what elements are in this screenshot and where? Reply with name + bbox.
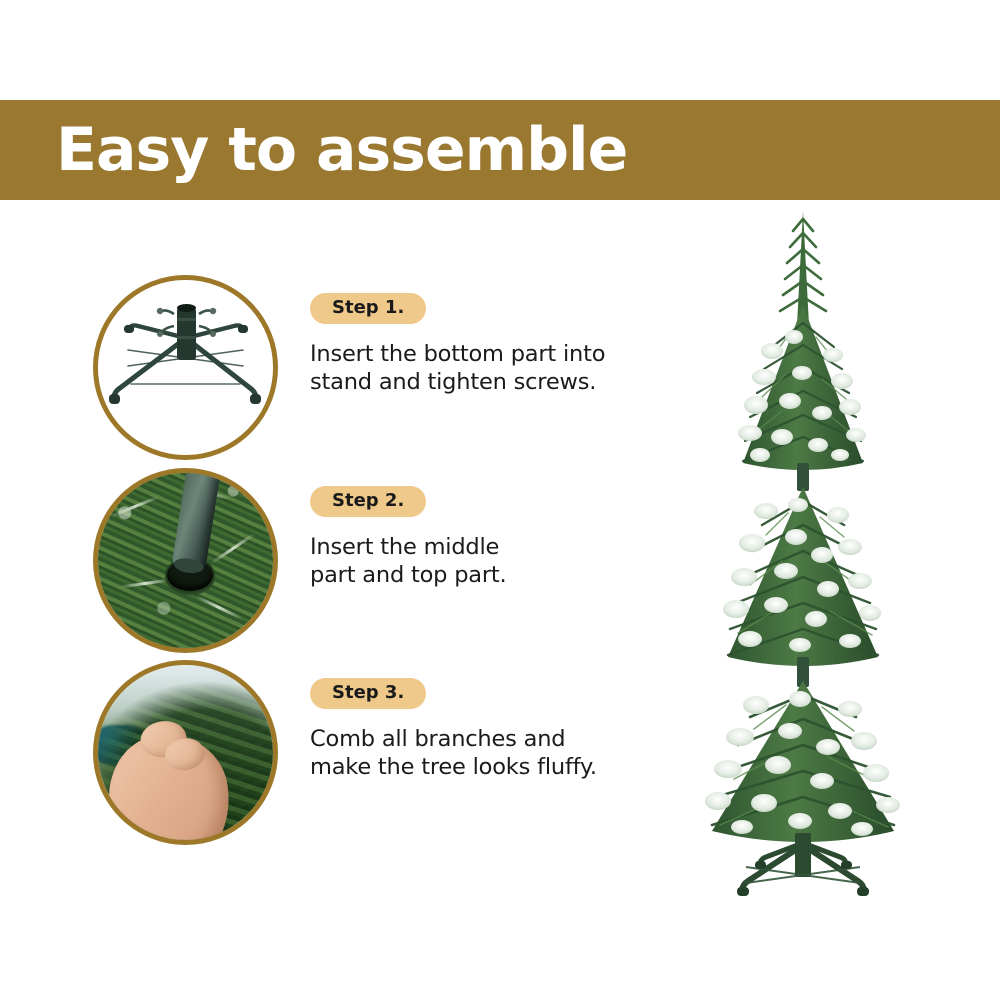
tree-stand (737, 833, 869, 896)
step-2-description: Insert the middle part and top part. (310, 533, 660, 590)
header-banner: Easy to assemble (0, 100, 1000, 200)
step-1-text: Step 1. Insert the bottom part into stan… (310, 293, 660, 397)
tree-section-middle (723, 487, 881, 687)
step-1-description: Insert the bottom part into stand and ti… (310, 340, 660, 397)
tree-section-top (738, 211, 866, 491)
step-3-description: Comb all branches and make the tree look… (310, 725, 660, 782)
tree-stand-illustration (98, 280, 273, 455)
step-1-image-circle (93, 275, 278, 460)
pole-into-socket-photo (98, 473, 273, 648)
tree-stand-photo (98, 280, 273, 455)
christmas-tree-illustration (690, 205, 1000, 905)
page-title: Easy to assemble (56, 120, 627, 180)
step-2-image-circle (93, 468, 278, 653)
step-1-badge: Step 1. (310, 293, 426, 324)
section-connector-pole (797, 463, 809, 491)
step-row: Step 3. Comb all branches and make the t… (0, 660, 660, 853)
hand-combing-branches-photo (98, 665, 273, 840)
infographic-page: Easy to assemble (0, 0, 1000, 1000)
step-3-text: Step 3. Comb all branches and make the t… (310, 678, 660, 782)
tree-section-bottom (705, 681, 900, 842)
step-3-badge: Step 3. (310, 678, 426, 709)
step-2-text: Step 2. Insert the middle part and top p… (310, 486, 660, 590)
step-2-badge: Step 2. (310, 486, 426, 517)
step-row: Step 2. Insert the middle part and top p… (0, 468, 660, 661)
assembled-christmas-tree (690, 205, 1000, 905)
step-3-image-circle (93, 660, 278, 845)
step-row: Step 1. Insert the bottom part into stan… (0, 275, 660, 468)
steps-section: Step 1. Insert the bottom part into stan… (0, 200, 660, 1000)
tree-stand-icon (98, 280, 273, 455)
